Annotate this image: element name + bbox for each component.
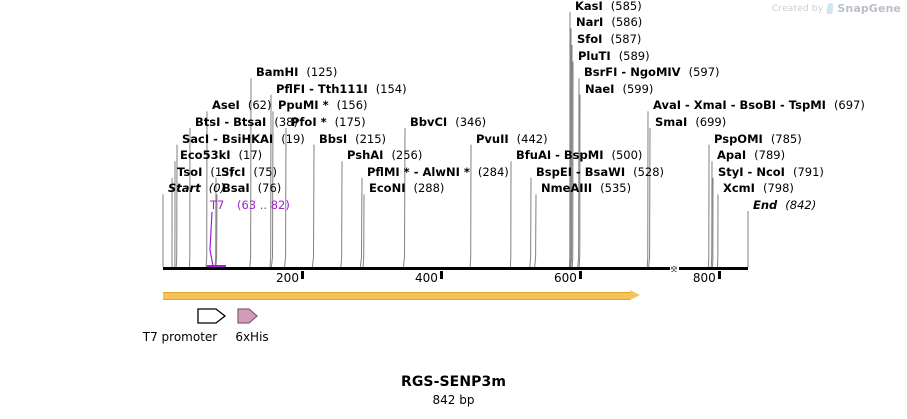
enzyme-position: (215) xyxy=(355,132,386,146)
enzyme-position: (597) xyxy=(689,65,720,79)
enzyme-position: (528) xyxy=(633,165,664,179)
enzyme-name: PflMI * - AlwNI * xyxy=(367,165,470,179)
enzyme-label[interactable]: End(842) xyxy=(753,199,816,212)
enzyme-position: (76) xyxy=(258,181,282,195)
enzyme-position: (154) xyxy=(376,82,407,96)
enzyme-name: SfoI xyxy=(577,32,602,46)
enzyme-position: (791) xyxy=(793,165,824,179)
construct-length: 842 bp xyxy=(0,393,907,407)
enzyme-label[interactable]: ApaI(789) xyxy=(717,149,785,162)
enzyme-position: (256) xyxy=(391,148,422,162)
map-title-block: RGS-SENP3m 842 bp xyxy=(0,374,907,407)
enzyme-label[interactable]: BspEI - BsaWI(528) xyxy=(536,166,664,179)
enzyme-name: PvuII xyxy=(476,132,509,146)
enzyme-label[interactable]: PluTI(589) xyxy=(578,50,650,63)
enzyme-name: Eco53kI xyxy=(180,148,231,162)
enzyme-position: (785) xyxy=(771,132,802,146)
enzyme-name: PfoI * xyxy=(291,115,327,129)
enzyme-position: (19) xyxy=(281,132,305,146)
enzyme-label[interactable]: PspOMI(785) xyxy=(714,133,802,146)
enzyme-position: (284) xyxy=(478,165,509,179)
enzyme-label[interactable]: PpuMI *(156) xyxy=(278,99,368,112)
enzyme-label[interactable]: KasI(585) xyxy=(575,0,642,13)
enzyme-label[interactable]: XcmI(798) xyxy=(723,182,794,195)
enzyme-position: (798) xyxy=(763,181,794,195)
enzyme-label[interactable]: BtsI - BtsaI(38) xyxy=(195,116,298,129)
enzyme-position: (156) xyxy=(337,98,368,112)
enzyme-name: BtsI - BtsaI xyxy=(195,115,266,129)
enzyme-label[interactable]: PfoI *(175) xyxy=(291,116,366,129)
enzyme-name: BamHI xyxy=(256,65,298,79)
enzyme-label[interactable]: SmaI(699) xyxy=(655,116,726,129)
enzyme-name: KasI xyxy=(575,0,603,13)
enzyme-label[interactable]: BsrFI - NgoMIV(597) xyxy=(584,66,720,79)
ruler-tick-label: 200 xyxy=(276,271,301,285)
enzyme-name: AseI xyxy=(212,98,240,112)
enzyme-position: (535) xyxy=(600,181,631,195)
enzyme-label[interactable]: SfoI(587) xyxy=(577,33,641,46)
enzyme-name: EcoNI xyxy=(369,181,405,195)
enzyme-position: (62) xyxy=(248,98,272,112)
enzyme-label[interactable]: Start(0) xyxy=(168,182,225,195)
enzyme-position: (288) xyxy=(413,181,444,195)
enzyme-position: (346) xyxy=(455,115,486,129)
ruler-tick xyxy=(718,271,721,279)
ruler-tick xyxy=(301,271,304,279)
enzyme-label[interactable]: BfuAI - BspMI(500) xyxy=(516,149,642,162)
enzyme-label[interactable]: Eco53kI(17) xyxy=(180,149,262,162)
enzyme-label[interactable]: PvuII(442) xyxy=(476,133,548,146)
enzyme-label[interactable]: BsaI(76) xyxy=(222,182,281,195)
enzyme-label[interactable]: StyI - NcoI(791) xyxy=(718,166,824,179)
enzyme-name: BfuAI - BspMI xyxy=(516,148,603,162)
enzyme-label[interactable]: PflMI * - AlwNI *(284) xyxy=(367,166,509,179)
enzyme-name: BsrFI - NgoMIV xyxy=(584,65,681,79)
enzyme-label[interactable]: AseI(62) xyxy=(212,99,271,112)
t7-highlight-range: (63 .. 82) xyxy=(237,198,290,212)
enzyme-label[interactable]: NarI(586) xyxy=(576,16,642,29)
enzyme-label[interactable]: AvaI - XmaI - BsoBI - TspMI(697) xyxy=(653,99,865,112)
enzyme-name: SmaI xyxy=(655,115,687,129)
enzyme-position: (586) xyxy=(611,15,642,29)
enzyme-name: PpuMI * xyxy=(278,98,329,112)
enzyme-label[interactable]: PflFI - Tth111I(154) xyxy=(276,83,407,96)
restriction-site-labels: Start(0)TsoI(13)Eco53kI(17)SacI - BsiHKA… xyxy=(0,0,907,270)
enzyme-name: Start xyxy=(168,181,201,195)
enzyme-label[interactable]: BbvCI(346) xyxy=(410,116,486,129)
feature-arrow-t7-promoter[interactable] xyxy=(197,306,227,330)
ruler-tick-label: 800 xyxy=(693,271,718,285)
enzyme-position: (585) xyxy=(611,0,642,13)
enzyme-name: NarI xyxy=(576,15,603,29)
enzyme-name: BbsI xyxy=(319,132,347,146)
enzyme-name: PflFI - Tth111I xyxy=(276,82,368,96)
enzyme-name: ApaI xyxy=(717,148,746,162)
enzyme-name: SacI - BsiHKAI xyxy=(182,132,273,146)
ruler-tick xyxy=(440,271,443,279)
enzyme-label[interactable]: EcoNI(288) xyxy=(369,182,444,195)
enzyme-position: (500) xyxy=(611,148,642,162)
enzyme-position: (842) xyxy=(785,198,816,212)
enzyme-name: XcmI xyxy=(723,181,755,195)
t7-highlight-name: T7 xyxy=(210,198,224,212)
enzyme-name: AvaI - XmaI - BsoBI - TspMI xyxy=(653,98,826,112)
enzyme-position: (699) xyxy=(695,115,726,129)
enzyme-name: NmeAIII xyxy=(541,181,592,195)
construct-name: RGS-SENP3m xyxy=(0,374,907,390)
enzyme-position: (442) xyxy=(517,132,548,146)
enzyme-name: NaeI xyxy=(585,82,614,96)
enzyme-label[interactable]: BbsI(215) xyxy=(319,133,386,146)
enzyme-name: PshAI xyxy=(347,148,383,162)
enzyme-name: TsoI xyxy=(177,165,202,179)
enzyme-position: (125) xyxy=(306,65,337,79)
sequence-map: Created by SnapGene Start(0)TsoI(13)Eco5… xyxy=(0,0,907,419)
t7-highlight-label: T7 (63 .. 82) xyxy=(210,199,290,212)
enzyme-position: (599) xyxy=(622,82,653,96)
enzyme-name: StyI - NcoI xyxy=(718,165,785,179)
enzyme-name: BspEI - BsaWI xyxy=(536,165,625,179)
feature-track: T7 promoter 6xHis xyxy=(0,288,907,358)
enzyme-position: (789) xyxy=(754,148,785,162)
feature-arrow-6xhis[interactable] xyxy=(237,306,259,330)
enzyme-name: SfcI xyxy=(221,165,245,179)
ruler-tick-label: 400 xyxy=(415,271,440,285)
enzyme-name: PspOMI xyxy=(714,132,763,146)
enzyme-position: (589) xyxy=(619,49,650,63)
enzyme-name: PluTI xyxy=(578,49,611,63)
orf-arrow xyxy=(163,291,640,299)
enzyme-name: End xyxy=(753,198,777,212)
enzyme-name: BsaI xyxy=(222,181,250,195)
enzyme-label[interactable]: PshAI(256) xyxy=(347,149,422,162)
enzyme-label[interactable]: NmeAIII(535) xyxy=(541,182,631,195)
feature-label-t7-promoter: T7 promoter xyxy=(143,330,217,344)
ruler-axis xyxy=(163,267,748,270)
enzyme-position: (17) xyxy=(239,148,263,162)
ruler-tick-label: 600 xyxy=(554,271,579,285)
enzyme-position: (75) xyxy=(253,165,277,179)
enzyme-position: (697) xyxy=(834,98,865,112)
enzyme-name: BbvCI xyxy=(410,115,447,129)
enzyme-label[interactable]: SacI - BsiHKAI(19) xyxy=(182,133,305,146)
enzyme-position: (175) xyxy=(335,115,366,129)
enzyme-label[interactable]: BamHI(125) xyxy=(256,66,337,79)
enzyme-label[interactable]: NaeI(599) xyxy=(585,83,653,96)
enzyme-label[interactable]: SfcI(75) xyxy=(221,166,277,179)
feature-label-6xhis: 6xHis xyxy=(235,330,268,344)
enzyme-position: (587) xyxy=(610,32,641,46)
ruler-tick xyxy=(579,271,582,279)
axis-break-marker xyxy=(670,265,679,272)
